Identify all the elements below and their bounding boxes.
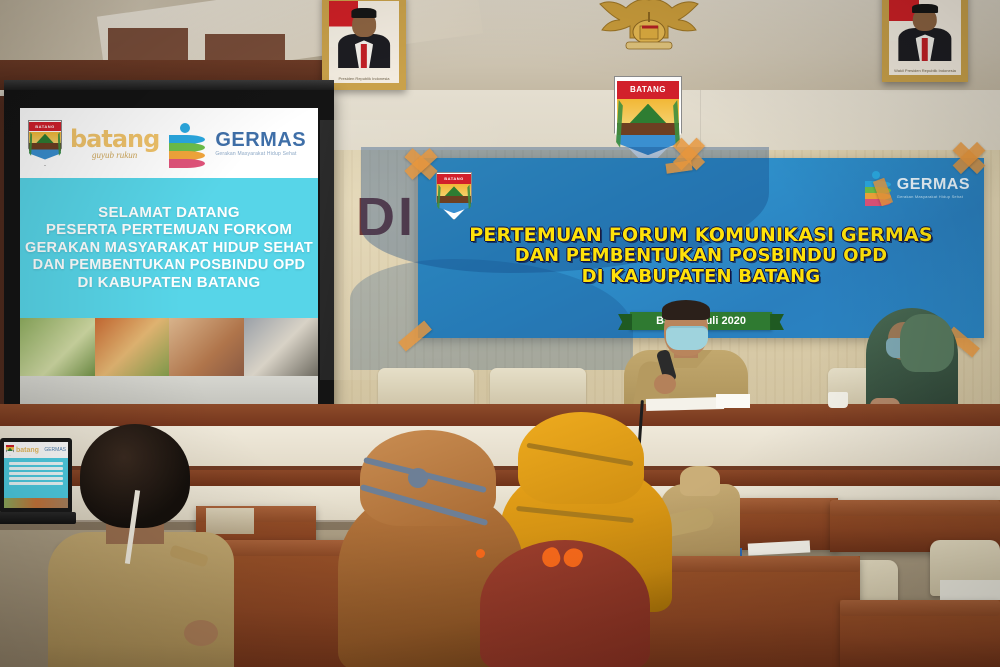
head-table-chair <box>490 368 586 406</box>
meeting-room-scene: Presiden Republik Indonesia Wakil Presid… <box>0 0 1000 667</box>
slide-header: BATANG batang guyub rukun <box>20 108 318 178</box>
shield-name-text: BATANG <box>35 125 55 129</box>
hijab-drape <box>900 314 954 372</box>
portrait-inner: Wakil Presiden Republik Indonesia <box>889 0 961 75</box>
batang-wordmark-logo: batang guyub rukun <box>70 127 159 160</box>
slide-line-3: GERAKAN MASYARAKAT HIDUP SEHAT <box>25 240 313 256</box>
presenter-hand <box>654 374 676 394</box>
shield-name-band: BATANG <box>437 174 470 184</box>
garuda-pancasila-emblem <box>596 0 702 56</box>
president-portrait: Presiden Republik Indonesia <box>322 0 406 90</box>
shield-water <box>437 203 470 214</box>
germas-logo-dot <box>180 123 190 133</box>
presentation-slide: BATANG batang guyub rukun <box>20 108 318 376</box>
shield-name-band: BATANG <box>617 81 680 99</box>
batang-wordmark: batang <box>70 127 159 151</box>
shield-name-text: BATANG <box>630 86 666 94</box>
banner-title-block: PERTEMUAN FORUM KOMUNIKASI GERMAS DAN PE… <box>418 224 984 288</box>
laptop-batang-wordmark: batang <box>16 447 39 454</box>
slide-photo-activity <box>169 318 244 376</box>
batang-shield: BATANG <box>436 172 472 220</box>
slide-photo-people <box>244 318 319 376</box>
germas-logo-dot <box>872 171 880 179</box>
slide-line-1: SELAMAT DATANG <box>98 205 240 222</box>
seated-woman-green-hijab <box>862 306 962 418</box>
paper-document <box>646 397 724 411</box>
drinking-cup <box>828 392 848 408</box>
hijab-cap <box>518 412 644 504</box>
batang-shield <box>6 445 14 456</box>
germas-logo-text: GERMAS Gerakan Masyarakat Hidup Sehat <box>897 177 970 199</box>
head-table-chair <box>378 368 474 406</box>
vice-president-portrait: Wakil Presiden Republik Indonesia <box>882 0 968 82</box>
slide-photo-food <box>95 318 170 376</box>
presenter-face-mask <box>666 326 708 350</box>
desk-top <box>840 600 1000 616</box>
attendee-head <box>680 466 720 496</box>
banner-batang-emblem: BATANG <box>436 172 472 220</box>
projection-screen: BATANG batang guyub rukun <box>4 88 334 426</box>
portrait-inner: Presiden Republik Indonesia <box>329 1 399 83</box>
laptop-batang-emblem <box>6 445 14 456</box>
germas-subtitle: Gerakan Masyarakat Hidup Sehat <box>897 195 970 199</box>
attendee-hand <box>184 620 218 646</box>
slide-photo-strip <box>20 318 318 376</box>
germas-title: GERMAS <box>215 130 306 150</box>
slide-body: SELAMAT DATANG PESERTA PERTEMUAN FORKOM … <box>20 178 318 318</box>
desk <box>840 600 1000 667</box>
germas-logo-icon <box>167 121 207 165</box>
portrait-songkok <box>351 8 376 18</box>
germas-title: GERMAS <box>897 177 970 193</box>
desk-top <box>830 500 1000 516</box>
germas-subtitle: Gerakan Masyarakat Hidup Sehat <box>215 152 306 157</box>
portrait-caption: Wakil Presiden Republik Indonesia <box>889 68 961 73</box>
attendee-uniform <box>48 532 234 667</box>
banner-title-line-1: PERTEMUAN FORUM KOMUNIKASI GERMAS <box>418 224 984 246</box>
slide-line-2: PESERTA PERTEMUAN FORKOM <box>46 222 292 239</box>
portrait-songkok <box>912 4 938 13</box>
attendee-khaki-uniform <box>44 424 234 667</box>
slide-line-5: DI KABUPATEN BATANG <box>78 275 261 292</box>
orange-bow-knot <box>476 549 485 558</box>
face-mask-knot <box>408 468 428 488</box>
batang-shield: BATANG <box>28 120 62 166</box>
shield-name-text: BATANG <box>444 177 464 181</box>
banner-title-line-2: DAN PEMBENTUKAN POSBINDU OPD <box>418 246 984 267</box>
slide-batang-emblem: BATANG <box>28 120 62 166</box>
slide-photo-vegetables <box>20 318 95 376</box>
screen-roller <box>4 80 334 90</box>
germas-swoosh-pink <box>169 159 205 168</box>
portrait-caption: Presiden Republik Indonesia <box>329 76 399 81</box>
shield-name-band <box>6 445 13 447</box>
banner-title-line-3: DI KABUPATEN BATANG <box>418 267 984 288</box>
slide-line-4: DAN PEMBENTUKAN POSBINDU OPD <box>33 257 306 273</box>
portrait-tie <box>922 38 928 61</box>
portrait-tie <box>361 44 367 69</box>
attendee-rust-hijab <box>460 540 670 667</box>
shield-water <box>29 149 60 159</box>
projection-screen-surface: BATANG batang guyub rukun <box>20 108 318 376</box>
shield-name-band: BATANG <box>29 122 60 131</box>
presenter-hair <box>662 300 710 320</box>
germas-logo-text: GERMAS Gerakan Masyarakat Hidup Sehat <box>215 130 306 157</box>
batang-tagline: guyub rukun <box>92 151 137 160</box>
paper-document <box>716 394 750 408</box>
orange-bow-accessory <box>542 546 582 570</box>
